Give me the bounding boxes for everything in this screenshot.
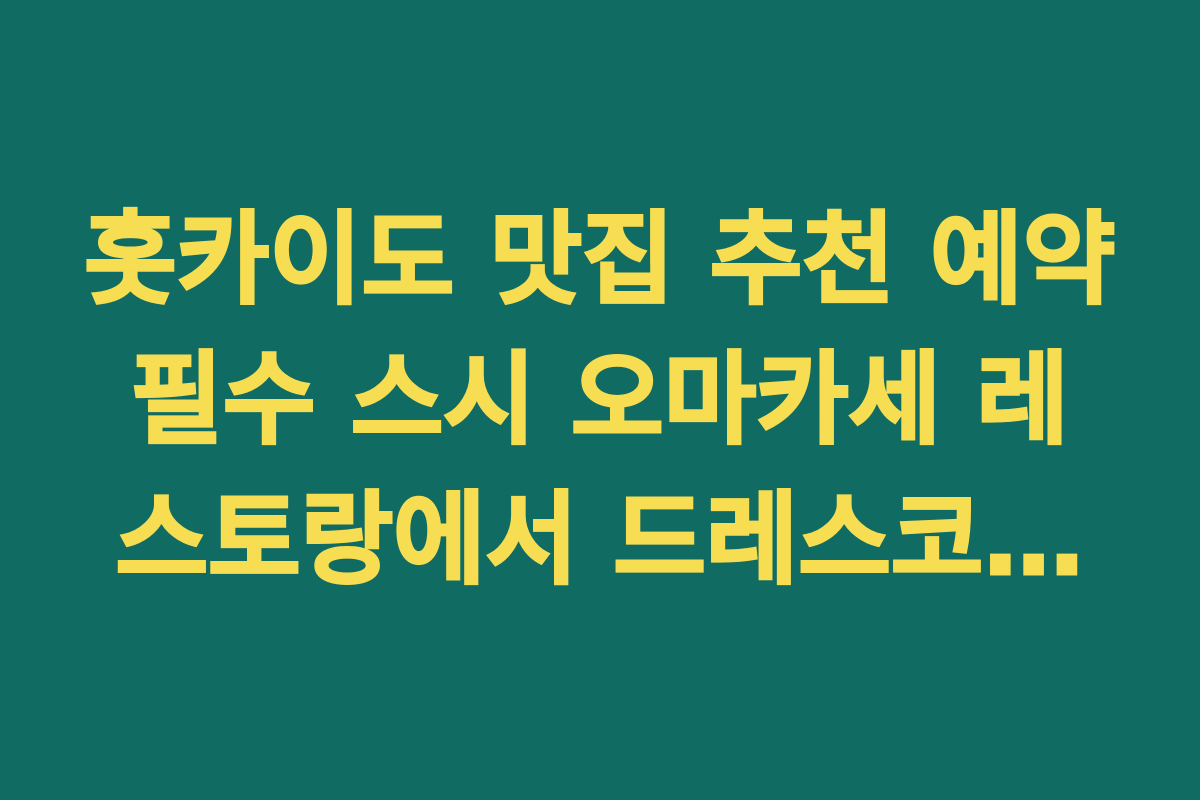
title-line-1: 홋카이도 맛집 추천 예약 <box>68 190 1132 330</box>
title-line-2: 필수 스시 오마카세 레 <box>68 330 1132 470</box>
thumbnail-card: 홋카이도 맛집 추천 예약 필수 스시 오마카세 레 스토랑에서 드레스코… <box>0 0 1200 800</box>
page-title: 홋카이도 맛집 추천 예약 필수 스시 오마카세 레 스토랑에서 드레스코… <box>68 190 1132 610</box>
title-line-3: 스토랑에서 드레스코… <box>68 470 1132 610</box>
